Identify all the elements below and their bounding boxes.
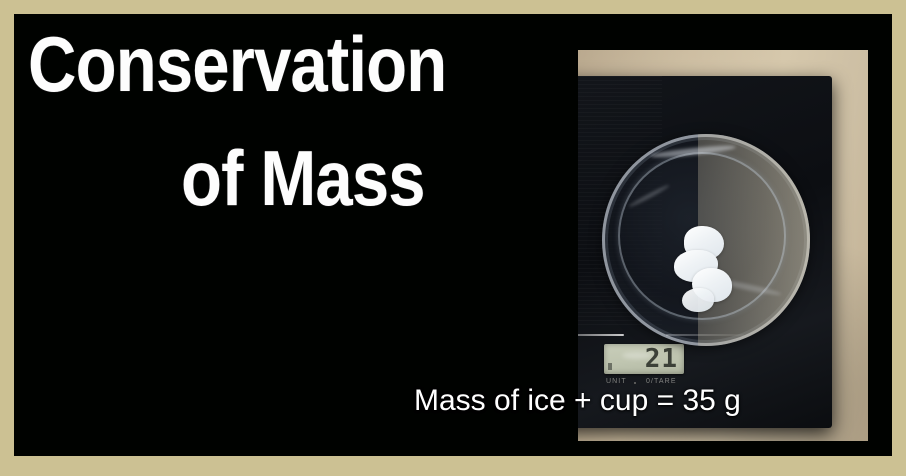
title-line-1: Conservation	[28, 26, 419, 102]
slide-frame: 21 UNIT 0/TARE	[0, 0, 906, 476]
scale-guide-line-left	[578, 334, 624, 336]
caption-text: Mass of ice + cup = 35 g	[414, 384, 741, 418]
page-title: Conservation of Mass	[28, 26, 483, 217]
scale-reading-value: 21	[645, 345, 678, 373]
slide-canvas: 21 UNIT 0/TARE	[14, 14, 892, 456]
title-line-2: of Mass	[181, 140, 441, 216]
digital-scale: 21 UNIT 0/TARE	[578, 76, 832, 428]
scale-lcd-display: 21	[604, 344, 684, 374]
video-region: 21 UNIT 0/TARE	[578, 50, 868, 441]
ice-cubes	[674, 226, 736, 310]
clear-cup	[602, 134, 810, 346]
ice-chunk-d	[682, 288, 714, 312]
lcd-unit-indicator	[608, 363, 612, 370]
